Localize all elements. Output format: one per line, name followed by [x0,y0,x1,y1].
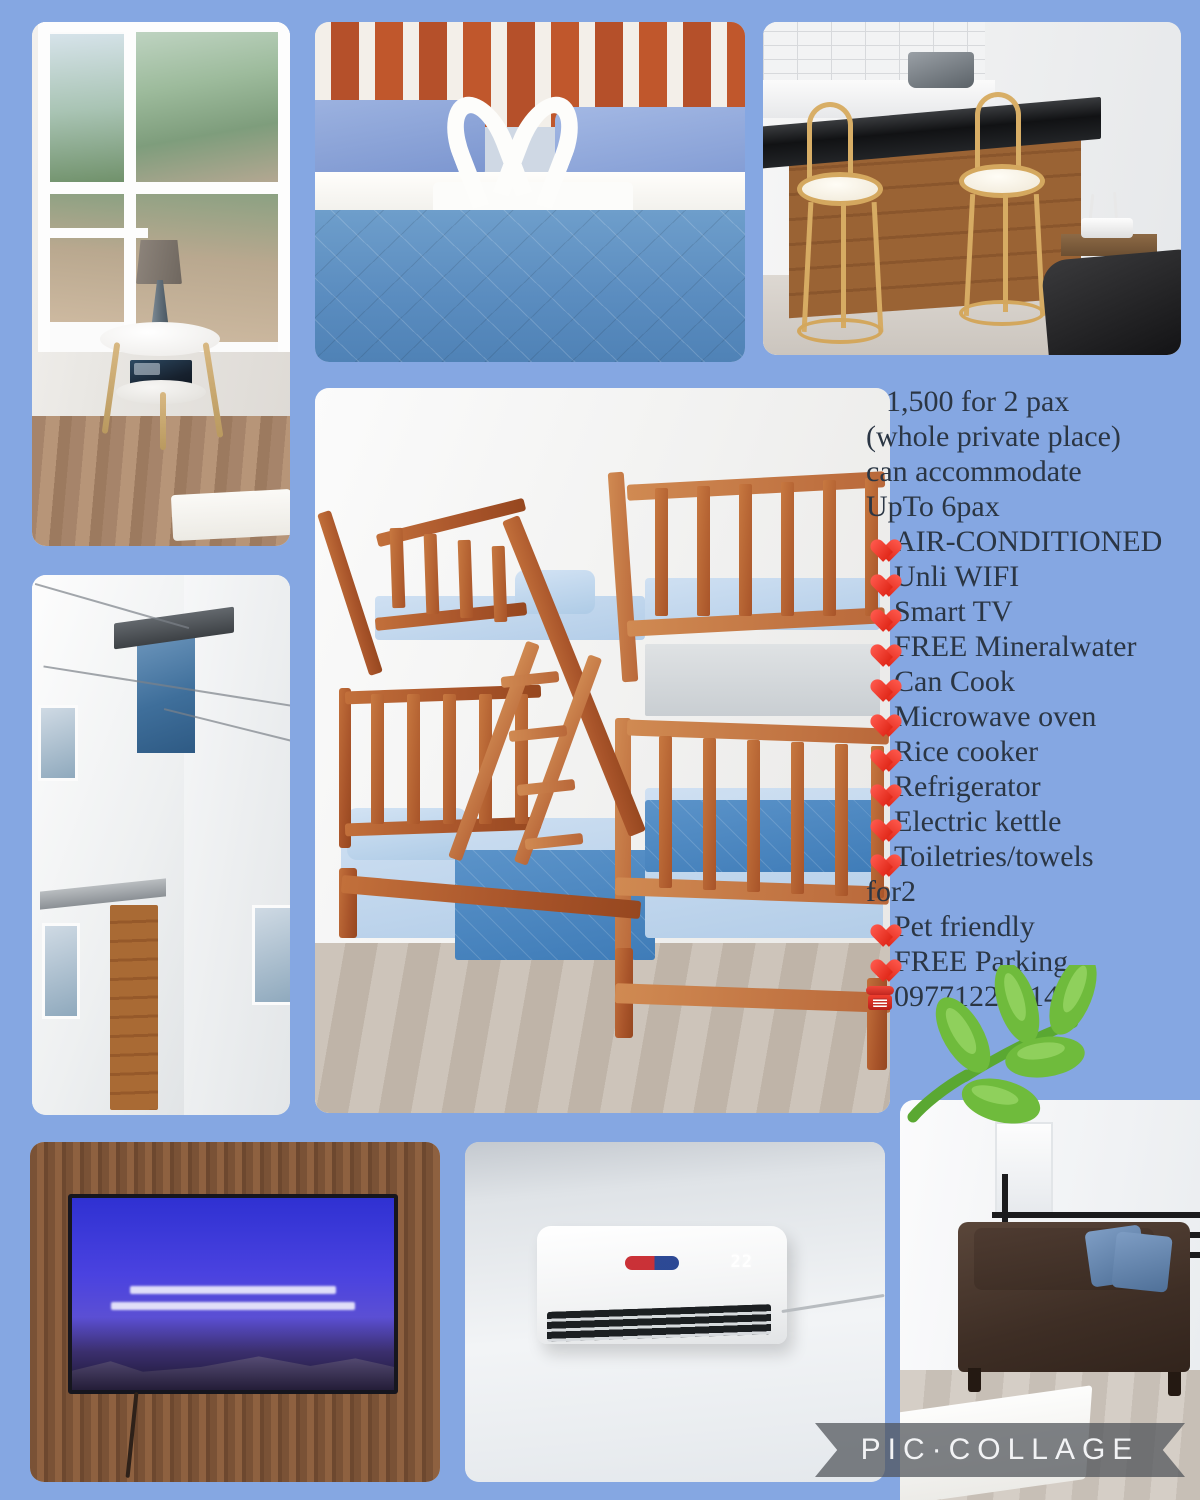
heart-icon [866,600,893,625]
amenity-label: FREE Parking [894,945,1068,978]
amenity-label: Rice cooker [894,735,1038,768]
amenity-label: Smart TV [894,595,1013,628]
detail-line-1: (whole private place) [866,419,1200,454]
collage-canvas: 22 1,500 for 2 pax (whole private place)… [0,0,1200,1500]
amenity-free-parking: FREE Parking [866,944,1200,979]
amenity-free-mineralwater: FREE Mineralwater [866,629,1200,664]
photo-house-exterior[interactable] [32,575,290,1115]
amenity-label: Can Cook [894,665,1015,698]
ac-unit: 22 [537,1226,787,1344]
photo-corner-window-room[interactable] [32,22,290,546]
amenity-label: Microwave oven [894,700,1096,733]
heart-icon [866,635,893,660]
heart-icon [866,670,893,695]
telephone-icon [866,986,894,1010]
amenity-label: Pet friendly [894,910,1035,943]
amenity-label: Toiletries/towels [894,840,1094,873]
photo-kitchen-bar-stools-content [763,22,1181,355]
amenity-rice-cooker: Rice cooker [866,734,1200,769]
amenity-label: FREE Mineralwater [894,630,1136,663]
pic-collage-watermark: PIC·COLLAGE [815,1423,1185,1477]
photo-wooden-bunk-bed-content [315,388,890,1113]
ac-brand-logo [625,1256,679,1270]
amenity-smart-tv: Smart TV [866,594,1200,629]
amenity-refrigerator: Refrigerator [866,769,1200,804]
amenity-label: Refrigerator [894,770,1041,803]
amenity-pet-friendly: Pet friendly [866,909,1200,944]
listing-details-panel: 1,500 for 2 pax (whole private place) ca… [866,384,1200,1014]
amenity-label: Electric kettle [894,805,1061,838]
heart-icon [866,705,893,730]
amenity-unli-wifi: Unli WIFI [866,559,1200,594]
ac-display-value: 22 [731,1252,753,1272]
photo-wooden-bunk-bed[interactable] [315,388,890,1113]
contact-number-line[interactable]: 09771222714 [866,979,1200,1014]
heart-icon [866,740,893,765]
heart-icon [866,775,893,800]
amenity-can-cook: Can Cook [866,664,1200,699]
heart-icon [866,530,893,555]
price-line: 1,500 for 2 pax [866,384,1200,419]
heart-icon [866,810,893,835]
photo-smart-tv-content [30,1142,440,1482]
detail-line-2: can accommodate [866,454,1200,489]
photo-bed-towel-swans[interactable] [315,22,745,362]
heart-icon [866,845,893,870]
heart-icon [866,565,893,590]
photo-corner-window-room-content [32,22,290,546]
watermark-label: PIC·COLLAGE [861,1433,1140,1467]
detail-line-3: UpTo 6pax [866,489,1200,524]
photo-bed-towel-swans-content [315,22,745,362]
amenity-microwave-oven: Microwave oven [866,699,1200,734]
amenity-label: Unli WIFI [894,560,1019,593]
amenity-air-conditioned: AIR-CONDITIONED [866,524,1200,559]
amenity-electric-kettle: Electric kettle [866,804,1200,839]
heart-icon [866,915,893,940]
contact-number: 09771222714 [894,980,1059,1013]
amenity-toiletries-towels: Toiletries/towels [866,839,1200,874]
heart-icon [866,950,893,975]
photo-smart-tv[interactable] [30,1142,440,1482]
photo-house-exterior-content [32,575,290,1115]
amenity-toiletries-towels-cont: for2 [866,874,1200,909]
photo-kitchen-bar-stools[interactable] [763,22,1181,355]
amenity-label: AIR-CONDITIONED [894,525,1162,558]
